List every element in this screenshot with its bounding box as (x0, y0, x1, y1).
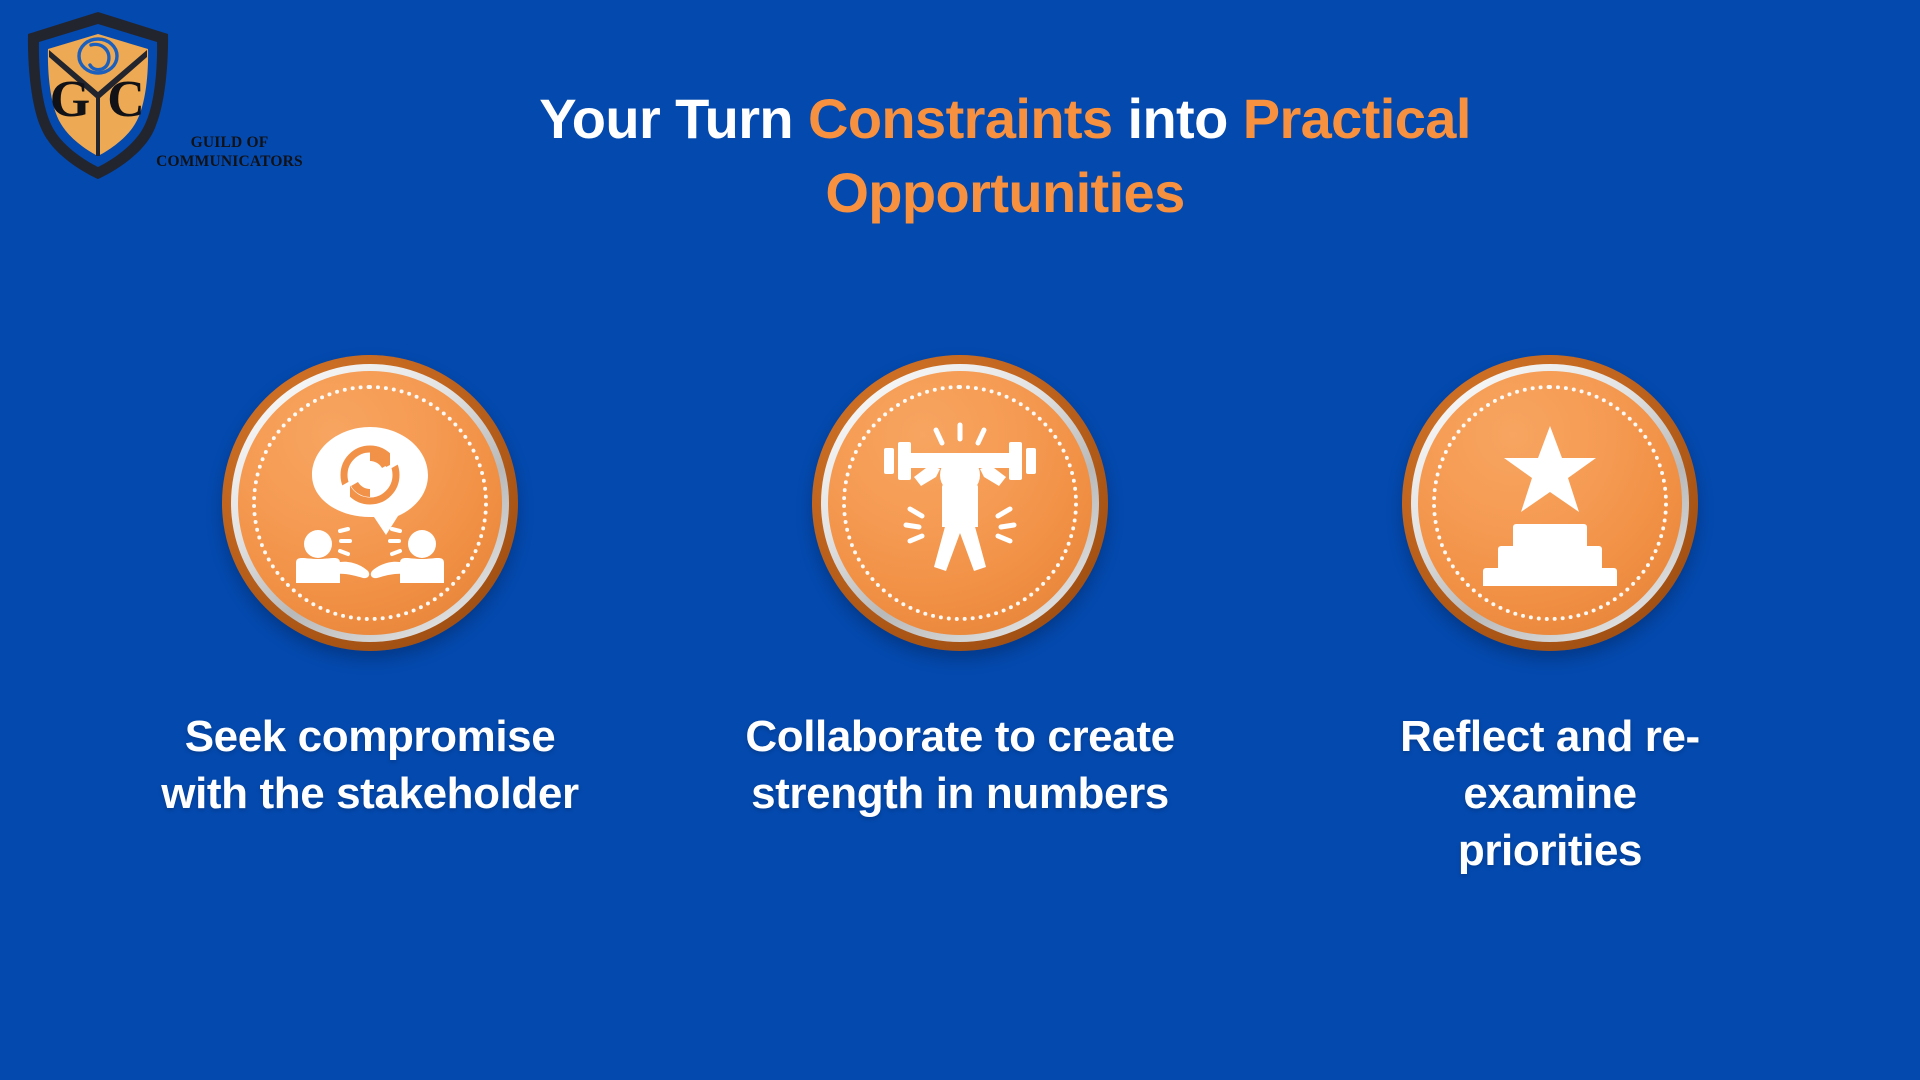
title-accent-constraints: Constraints (808, 87, 1113, 150)
weightlifter-barbell-icon (812, 355, 1108, 651)
badge-2 (812, 355, 1108, 651)
slide-canvas: G C GUILD OF COMMUNICATORS Your Turn Con… (0, 0, 1920, 1080)
page-title: Your Turn Constraints into Practical Opp… (0, 82, 1920, 231)
card-caption-3: Reflect and re-examine priorities (1385, 709, 1715, 879)
card-caption-1: Seek compromise with the stakeholder (140, 709, 600, 823)
card-reflect: Reflect and re-examine priorities (1300, 355, 1800, 879)
card-caption-2: Collaborate to create strength in number… (735, 709, 1185, 823)
star-on-pyramid-steps-icon (1402, 355, 1698, 651)
cards-row: Seek compromise with the stakeholder (120, 355, 1800, 879)
title-part-3: into (1113, 87, 1228, 150)
speech-bubble-refresh-two-people-icon (222, 355, 518, 651)
card-collaborate: Collaborate to create strength in number… (710, 355, 1210, 823)
badge-3 (1402, 355, 1698, 651)
badge-1 (222, 355, 518, 651)
title-part-1: Your Turn (539, 87, 808, 150)
card-seek-compromise: Seek compromise with the stakeholder (120, 355, 620, 823)
